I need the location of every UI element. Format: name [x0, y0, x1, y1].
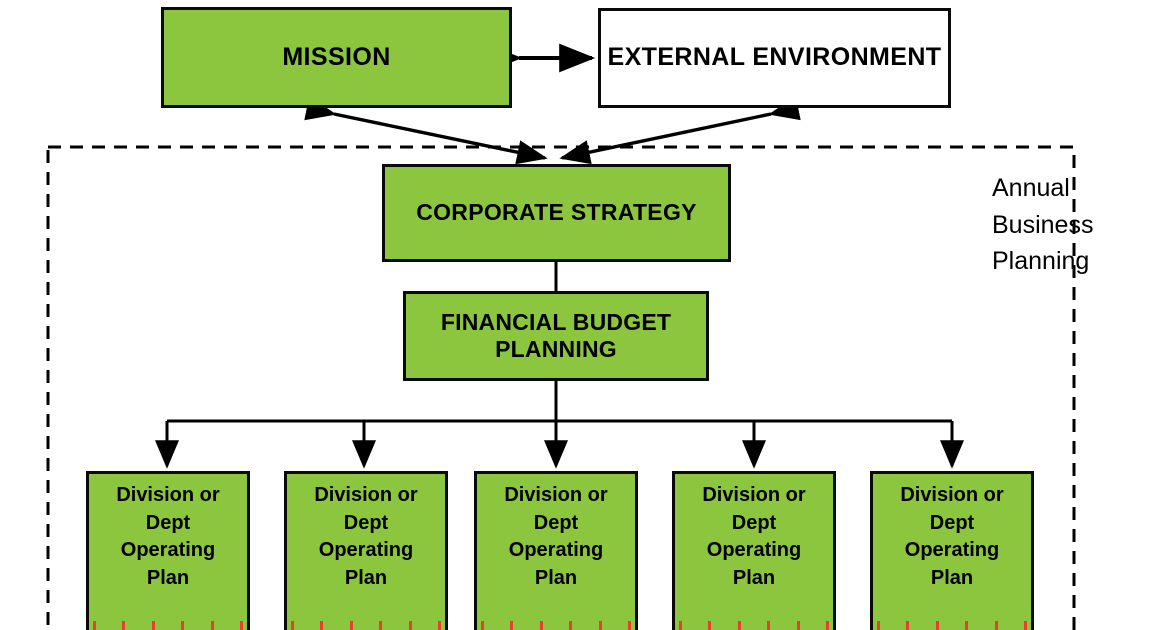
- diagram-canvas: MISSION EXTERNAL ENVIRONMENT CORPORATE S…: [0, 0, 1175, 630]
- division-4-line-4: Plan: [702, 565, 805, 593]
- annual-label-line-3: Planning: [992, 243, 1162, 280]
- node-external-line-2: ENVIRONMENT: [752, 43, 941, 71]
- node-corporate-strategy[interactable]: CORPORATE STRATEGY: [382, 164, 731, 262]
- tick-marks-2: [287, 620, 445, 630]
- annual-business-planning-label: Annual Business Planning: [992, 170, 1162, 280]
- node-mission-label: MISSION: [282, 43, 390, 73]
- node-external-environment-label: EXTERNAL ENVIRONMENT: [608, 43, 942, 73]
- tick-marks-1: [89, 620, 247, 630]
- division-3-line-3: Operating: [504, 537, 607, 565]
- annual-label-line-1: Annual: [992, 170, 1162, 207]
- node-division-plan-1-label: Division or Dept Operating Plan: [116, 482, 219, 592]
- node-division-plan-5[interactable]: Division or Dept Operating Plan: [870, 471, 1034, 630]
- node-corporate-strategy-label: CORPORATE STRATEGY: [416, 199, 697, 226]
- division-4-line-2: Dept: [702, 510, 805, 538]
- node-mission[interactable]: MISSION: [161, 7, 512, 108]
- division-1-line-2: Dept: [116, 510, 219, 538]
- node-financial-budget-planning-label: FINANCIAL BUDGET PLANNING: [406, 309, 706, 363]
- division-3-line-4: Plan: [504, 565, 607, 593]
- division-1-line-3: Operating: [116, 537, 219, 565]
- division-1-line-1: Division or: [116, 482, 219, 510]
- node-division-plan-3[interactable]: Division or Dept Operating Plan: [474, 471, 638, 630]
- division-2-line-1: Division or: [314, 482, 417, 510]
- division-3-line-2: Dept: [504, 510, 607, 538]
- node-division-plan-1[interactable]: Division or Dept Operating Plan: [86, 471, 250, 630]
- division-4-line-1: Division or: [702, 482, 805, 510]
- division-5-line-1: Division or: [900, 482, 1003, 510]
- tick-marks-5: [873, 620, 1031, 630]
- arrow-external-corporate: [562, 114, 771, 158]
- node-financial-budget-planning[interactable]: FINANCIAL BUDGET PLANNING: [403, 291, 709, 381]
- tick-marks-3: [477, 620, 635, 630]
- arrow-mission-corporate: [334, 114, 545, 158]
- division-1-line-4: Plan: [116, 565, 219, 593]
- node-external-environment[interactable]: EXTERNAL ENVIRONMENT: [598, 8, 951, 108]
- node-financial-line-1: FINANCIAL BUDGET: [441, 309, 671, 335]
- division-2-line-3: Operating: [314, 537, 417, 565]
- division-2-line-4: Plan: [314, 565, 417, 593]
- division-5-line-4: Plan: [900, 565, 1003, 593]
- node-division-plan-4-label: Division or Dept Operating Plan: [702, 482, 805, 592]
- node-division-plan-5-label: Division or Dept Operating Plan: [900, 482, 1003, 592]
- division-5-line-2: Dept: [900, 510, 1003, 538]
- node-division-plan-4[interactable]: Division or Dept Operating Plan: [672, 471, 836, 630]
- node-external-line-1: EXTERNAL: [608, 43, 745, 71]
- node-financial-line-2: PLANNING: [495, 336, 617, 362]
- annual-label-line-2: Business: [992, 207, 1162, 244]
- division-4-line-3: Operating: [702, 537, 805, 565]
- node-corporate-line-2: STRATEGY: [571, 199, 697, 225]
- node-division-plan-3-label: Division or Dept Operating Plan: [504, 482, 607, 592]
- division-5-line-3: Operating: [900, 537, 1003, 565]
- node-corporate-line-1: CORPORATE: [416, 199, 564, 225]
- node-division-plan-2[interactable]: Division or Dept Operating Plan: [284, 471, 448, 630]
- division-2-line-2: Dept: [314, 510, 417, 538]
- node-division-plan-2-label: Division or Dept Operating Plan: [314, 482, 417, 592]
- division-3-line-1: Division or: [504, 482, 607, 510]
- tick-marks-4: [675, 620, 833, 630]
